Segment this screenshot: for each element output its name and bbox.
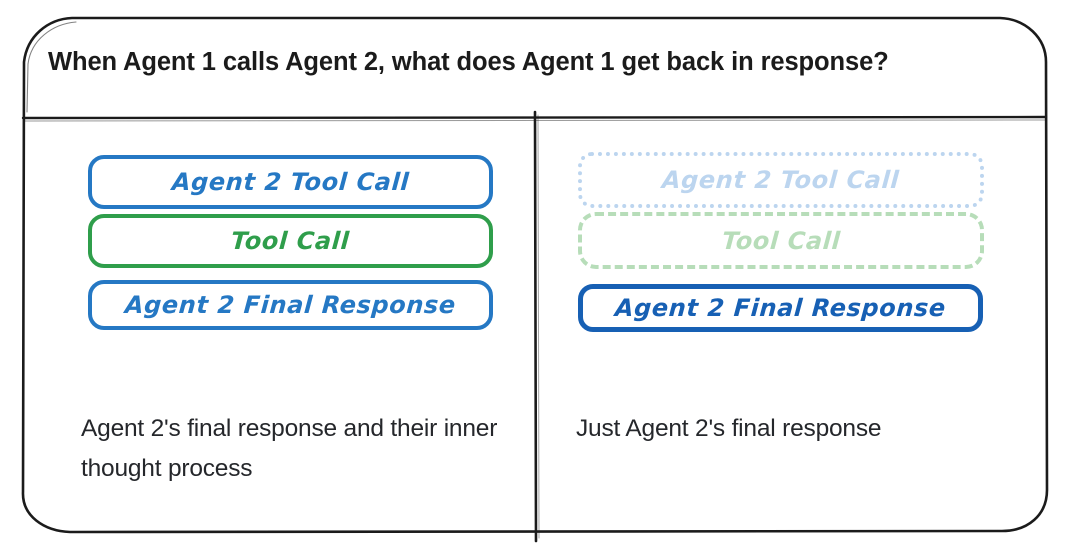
box-label: Tool Call: [230, 229, 350, 253]
box-agent2-final-response-right: Agent 2 Final Response: [578, 284, 983, 332]
caption-left: Agent 2's final response and their inner…: [81, 409, 511, 488]
box-tool-call-right: Tool Call: [578, 212, 984, 269]
box-tool-call-left: Tool Call: [88, 214, 493, 268]
box-label: Agent 2 Final Response: [124, 293, 457, 317]
box-label: Agent 2 Tool Call: [171, 170, 410, 194]
diagram-canvas: When Agent 1 calls Agent 2, what does Ag…: [0, 0, 1070, 550]
box-agent2-tool-call-left: Agent 2 Tool Call: [88, 155, 493, 209]
box-agent2-final-response-left: Agent 2 Final Response: [88, 280, 493, 330]
header-question: When Agent 1 calls Agent 2, what does Ag…: [48, 48, 1028, 77]
box-agent2-tool-call-right: Agent 2 Tool Call: [578, 152, 984, 208]
box-label: Tool Call: [721, 229, 841, 253]
caption-right: Just Agent 2's final response: [576, 409, 1026, 449]
column-right: Agent 2 Tool Call Tool Call Agent 2 Fina…: [536, 119, 1048, 529]
box-label: Agent 2 Tool Call: [662, 168, 901, 192]
column-left: Agent 2 Tool Call Tool Call Agent 2 Fina…: [22, 119, 535, 529]
box-label: Agent 2 Final Response: [614, 296, 947, 320]
